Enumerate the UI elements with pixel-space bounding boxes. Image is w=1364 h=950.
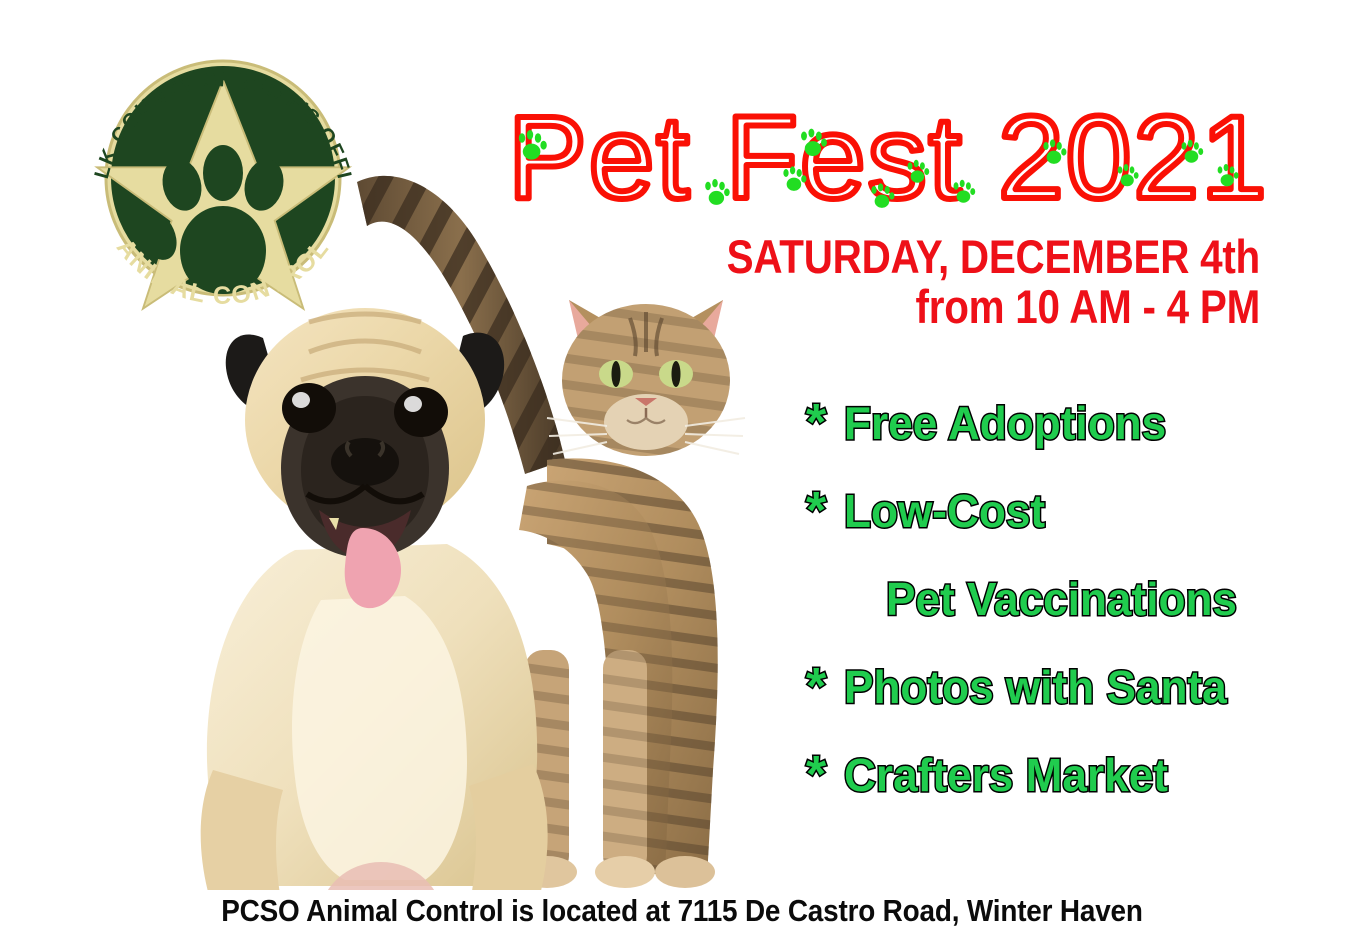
feature-label: Free Adoptions — [844, 396, 1166, 450]
bullet-asterisk-icon: * — [806, 748, 844, 802]
title-text: Pet Fest 2021 — [508, 98, 1268, 224]
svg-text:Pet Fest 2021: Pet Fest 2021 — [508, 98, 1268, 224]
pug-illustration — [201, 308, 548, 890]
pet-fest-poster: POLK COUNTY SHERIFF'S OFFICE ANIMAL CONT… — [0, 0, 1364, 950]
feature-label: Crafters Market — [844, 748, 1168, 802]
list-item: * Free Adoptions — [806, 396, 1276, 484]
feature-label: Photos with Santa — [844, 660, 1227, 714]
location-text: PCSO Animal Control is located at 7115 D… — [221, 893, 1143, 929]
event-time-line: from 10 AM - 4 PM — [658, 281, 1260, 333]
event-date-line: SATURDAY, DECEMBER 4th — [658, 232, 1260, 281]
feature-list: * Free Adoptions * Low-Cost Pet Vaccinat… — [806, 396, 1276, 836]
feature-label: Low-Cost — [844, 484, 1045, 538]
event-date-block: SATURDAY, DECEMBER 4th from 10 AM - 4 PM — [560, 232, 1260, 333]
bullet-asterisk-icon: * — [806, 396, 844, 450]
list-item: Pet Vaccinations — [806, 572, 1276, 660]
bullet-asterisk-icon: * — [806, 660, 844, 714]
feature-label: Pet Vaccinations — [886, 572, 1237, 626]
bullet-asterisk-icon: * — [806, 484, 844, 538]
list-item: * Crafters Market — [806, 748, 1276, 836]
list-item: * Photos with Santa — [806, 660, 1276, 748]
list-item: * Low-Cost — [806, 484, 1276, 572]
poster-title: Pet Fest 2021 — [508, 98, 1268, 228]
location-footer: PCSO Animal Control is located at 7115 D… — [0, 893, 1364, 929]
